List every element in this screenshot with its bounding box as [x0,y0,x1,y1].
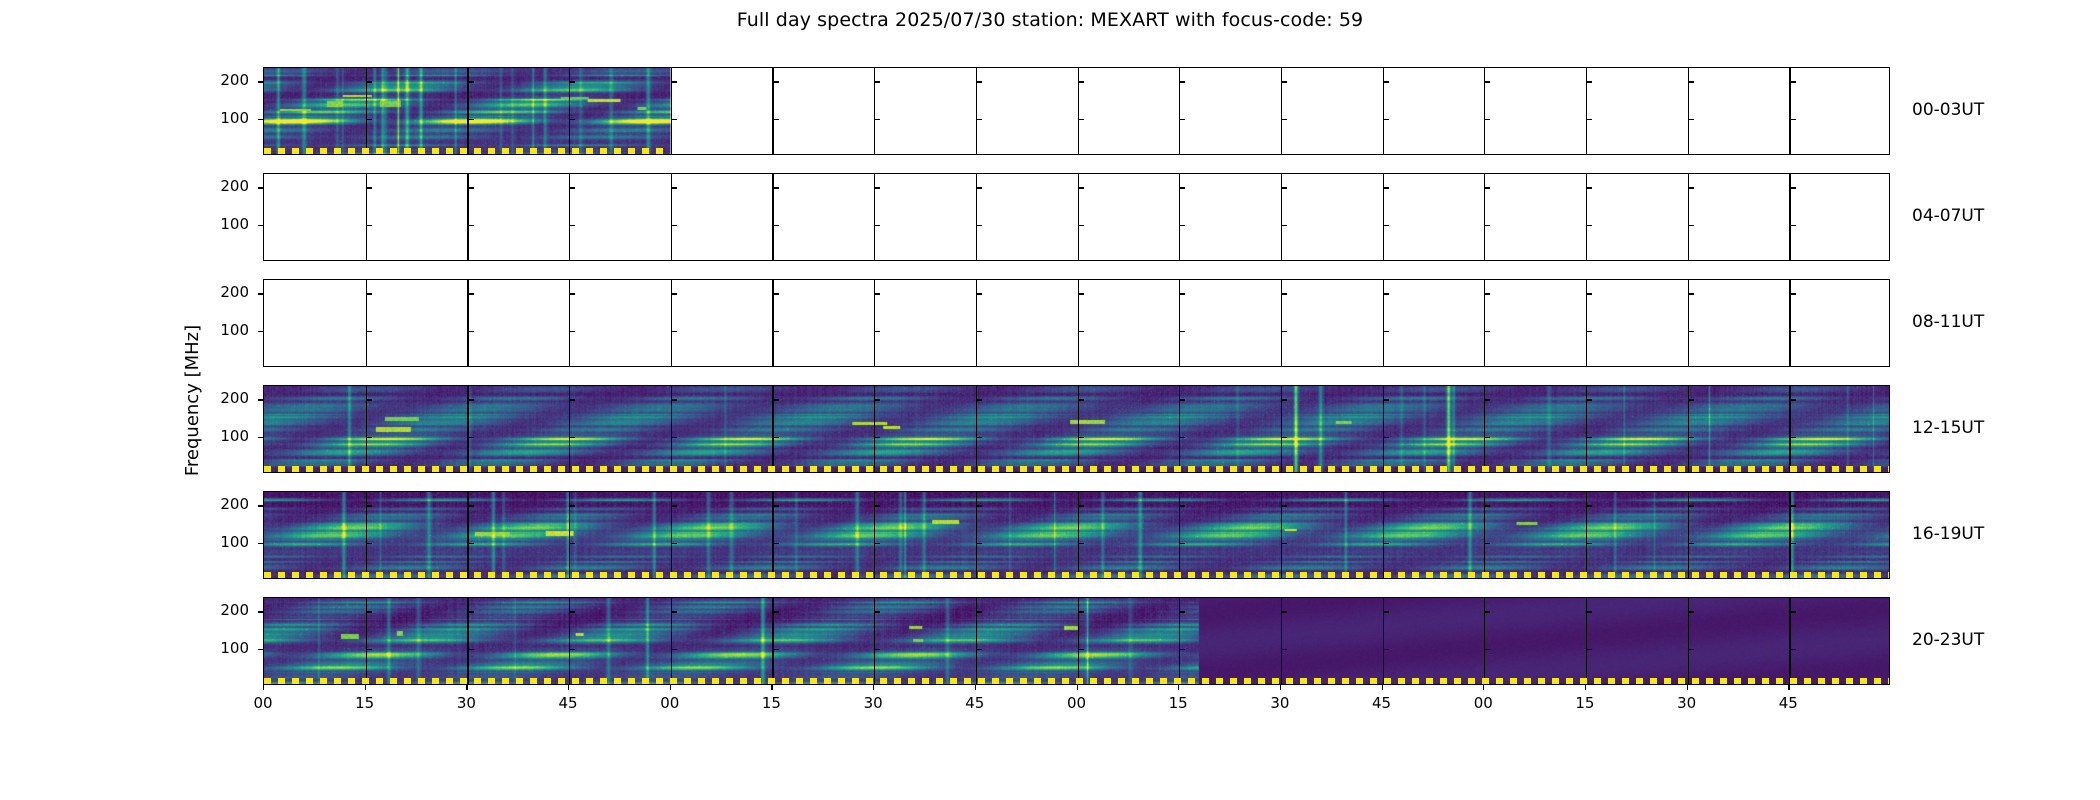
y-tick-mark-inner [977,437,982,438]
x-tick-label: 00 [650,694,690,712]
y-tick-mark [258,611,263,612]
y-tick-mark-inner [1791,399,1796,400]
y-tick-mark-inner [875,293,880,294]
y-tick-mark-inner [1485,293,1490,294]
y-tick-mark-inner [469,399,474,400]
y-tick-mark-inner [1485,225,1490,226]
y-tick-mark-inner [875,187,880,188]
y-tick-mark-inner [570,225,575,226]
y-tick-mark-inner [672,331,677,332]
y-tick-mark-inner [1485,187,1490,188]
y-tick-mark-inner [1282,331,1287,332]
y-tick-mark-inner [1079,543,1084,544]
y-tick-mark-inner [469,611,474,612]
spectrogram-panel-08-11ut[interactable] [263,279,1890,367]
y-tick-mark-inner [1485,505,1490,506]
y-tick-mark-inner [1485,611,1490,612]
x-tick-label: 00 [1463,694,1503,712]
y-tick-mark-inner [1587,399,1592,400]
y-tick-mark-inner [1587,505,1592,506]
y-tick-mark-inner [570,611,575,612]
x-tick-mark [466,685,467,690]
y-tick-mark-inner [570,293,575,294]
y-tick-mark-inner [367,293,372,294]
y-tick-mark [258,187,263,188]
y-tick-mark-inner [367,331,372,332]
spectrogram-image [264,598,1889,684]
y-tick-mark-inner [367,187,372,188]
y-tick-mark-inner [977,187,982,188]
y-tick-mark-inner [469,81,474,82]
panel-time-label: 00-03UT [1912,100,1984,120]
y-tick-mark-inner [977,293,982,294]
x-tick-label: 45 [1362,694,1402,712]
y-tick-label: 200 [201,71,249,89]
y-tick-mark-inner [469,119,474,120]
y-tick-mark-inner [1384,437,1389,438]
y-tick-mark-inner [570,399,575,400]
y-tick-label: 200 [201,283,249,301]
panel-time-label: 04-07UT [1912,206,1984,226]
y-tick-mark-inner [1180,399,1185,400]
y-tick-mark-inner [570,437,575,438]
y-tick-mark-inner [774,399,779,400]
y-tick-mark-inner [672,611,677,612]
y-tick-mark-inner [672,437,677,438]
y-tick-mark-inner [1384,331,1389,332]
y-tick-mark-inner [1384,293,1389,294]
spectrogram-panel-20-23ut[interactable] [263,597,1890,685]
y-tick-mark-inner [774,119,779,120]
y-tick-mark-inner [1689,649,1694,650]
y-tick-mark-inner [469,543,474,544]
y-tick-mark-inner [1282,187,1287,188]
y-tick-mark-inner [875,119,880,120]
y-tick-label: 100 [201,639,249,657]
y-tick-mark-inner [1079,81,1084,82]
y-tick-mark-inner [1587,225,1592,226]
spectrogram-image [264,68,1889,154]
y-tick-mark-inner [570,331,575,332]
x-tick-label: 00 [1057,694,1097,712]
y-tick-mark-inner [469,225,474,226]
spectrogram-panel-04-07ut[interactable] [263,173,1890,261]
x-tick-label: 15 [1158,694,1198,712]
y-tick-mark-inner [1079,649,1084,650]
y-tick-mark-inner [367,81,372,82]
y-tick-mark [258,437,263,438]
y-tick-mark-inner [1689,611,1694,612]
y-tick-mark-inner [672,399,677,400]
y-tick-mark-inner [1791,543,1796,544]
y-tick-mark-inner [1587,119,1592,120]
y-tick-mark [258,119,263,120]
y-tick-mark-inner [672,225,677,226]
y-tick-mark-inner [1282,119,1287,120]
y-tick-mark-inner [1384,187,1389,188]
y-tick-mark-inner [1791,119,1796,120]
x-tick-label: 45 [548,694,588,712]
y-tick-mark-inner [1180,649,1185,650]
y-tick-mark-inner [570,81,575,82]
y-tick-mark-inner [1791,293,1796,294]
x-tick-label: 45 [1768,694,1808,712]
y-tick-mark-inner [367,399,372,400]
y-tick-mark-inner [1180,611,1185,612]
y-tick-label: 200 [201,495,249,513]
y-tick-mark-inner [1485,81,1490,82]
y-tick-mark-inner [977,399,982,400]
y-tick-mark-inner [672,293,677,294]
y-tick-mark-inner [1079,437,1084,438]
x-tick-mark [1483,685,1484,690]
y-tick-mark-inner [1282,399,1287,400]
panel-time-label: 08-11UT [1912,312,1984,332]
y-tick-mark-inner [1485,119,1490,120]
y-tick-mark-inner [1587,611,1592,612]
y-tick-mark-inner [1282,505,1287,506]
x-tick-mark [568,685,569,690]
y-tick-mark-inner [1689,81,1694,82]
y-tick-mark-inner [1791,505,1796,506]
x-tick-label: 30 [1667,694,1707,712]
y-tick-mark-inner [774,187,779,188]
y-tick-mark-inner [1282,543,1287,544]
y-tick-mark-inner [672,119,677,120]
y-tick-mark-inner [672,81,677,82]
y-tick-mark-inner [1587,543,1592,544]
y-tick-mark [258,331,263,332]
y-tick-mark-inner [774,543,779,544]
y-tick-label: 100 [201,533,249,551]
y-tick-mark-inner [1079,611,1084,612]
y-tick-mark-inner [672,543,677,544]
y-tick-mark-inner [1689,119,1694,120]
y-tick-mark-inner [1791,81,1796,82]
y-tick-mark-inner [1079,187,1084,188]
y-tick-mark-inner [875,437,880,438]
y-tick-mark-inner [977,611,982,612]
y-tick-mark-inner [875,611,880,612]
y-tick-mark-inner [1180,543,1185,544]
y-tick-mark [258,81,263,82]
y-tick-mark [258,505,263,506]
y-tick-mark-inner [1587,187,1592,188]
y-tick-mark-inner [977,543,982,544]
y-tick-mark [258,649,263,650]
y-tick-mark-inner [774,225,779,226]
time-marker-strip [264,148,670,154]
y-tick-mark-inner [469,437,474,438]
x-tick-mark [365,685,366,690]
y-tick-mark-inner [1384,505,1389,506]
y-tick-mark-inner [977,331,982,332]
y-tick-mark-inner [1689,187,1694,188]
y-tick-label: 200 [201,601,249,619]
y-tick-mark-inner [977,225,982,226]
y-tick-mark-inner [1180,81,1185,82]
y-tick-mark-inner [1791,187,1796,188]
time-marker-strip [264,678,1889,684]
y-tick-mark-inner [875,543,880,544]
x-tick-label: 15 [751,694,791,712]
y-tick-mark [258,399,263,400]
spectrogram-image [264,492,1889,578]
y-tick-mark-inner [367,543,372,544]
y-tick-mark-inner [875,225,880,226]
y-tick-mark-inner [1180,437,1185,438]
spectrogram-image [264,386,1889,472]
y-tick-mark-inner [977,505,982,506]
time-marker-strip [264,466,1889,472]
y-tick-mark-inner [1282,81,1287,82]
y-tick-mark-inner [570,119,575,120]
y-tick-mark-inner [672,187,677,188]
y-tick-mark-inner [1485,437,1490,438]
y-tick-mark-inner [1587,293,1592,294]
time-marker-strip [264,572,1889,578]
y-tick-mark-inner [1282,437,1287,438]
x-tick-mark [1788,685,1789,690]
y-tick-mark-inner [672,505,677,506]
y-tick-mark [258,543,263,544]
y-tick-mark-inner [774,611,779,612]
y-tick-mark-inner [469,187,474,188]
x-tick-label: 30 [446,694,486,712]
y-tick-mark-inner [1282,293,1287,294]
spectrogram-panel-12-15ut[interactable] [263,385,1890,473]
y-tick-mark-inner [1689,293,1694,294]
y-tick-mark-inner [1485,649,1490,650]
y-tick-mark-inner [367,505,372,506]
y-tick-mark-inner [1180,331,1185,332]
y-tick-mark-inner [1282,649,1287,650]
y-tick-mark-inner [1079,119,1084,120]
panel-time-label: 12-15UT [1912,418,1984,438]
y-tick-mark-inner [1791,225,1796,226]
y-tick-mark-inner [1384,81,1389,82]
y-tick-mark-inner [1587,331,1592,332]
y-tick-mark-inner [1689,399,1694,400]
x-tick-label: 45 [955,694,995,712]
y-tick-mark-inner [1079,225,1084,226]
y-tick-mark-inner [570,649,575,650]
x-tick-mark [873,685,874,690]
y-tick-mark-inner [672,649,677,650]
y-tick-mark-inner [1180,505,1185,506]
y-tick-mark-inner [570,505,575,506]
x-tick-label: 15 [1565,694,1605,712]
y-tick-mark-inner [1689,437,1694,438]
y-tick-mark-inner [1180,119,1185,120]
y-tick-mark-inner [875,81,880,82]
y-tick-mark-inner [774,331,779,332]
y-tick-mark-inner [1384,543,1389,544]
y-tick-mark-inner [367,225,372,226]
y-tick-mark-inner [1485,331,1490,332]
y-tick-mark-inner [1384,611,1389,612]
y-tick-mark [258,293,263,294]
y-tick-label: 100 [201,427,249,445]
y-tick-mark-inner [1079,293,1084,294]
y-tick-mark-inner [1180,293,1185,294]
y-tick-mark-inner [1587,649,1592,650]
y-tick-label: 200 [201,389,249,407]
y-tick-mark-inner [774,437,779,438]
y-tick-mark-inner [1079,399,1084,400]
x-tick-label: 30 [853,694,893,712]
y-tick-mark-inner [1282,611,1287,612]
y-tick-mark-inner [1791,331,1796,332]
y-tick-mark-inner [1689,505,1694,506]
x-tick-label: 15 [345,694,385,712]
y-tick-mark-inner [1485,399,1490,400]
x-tick-mark [670,685,671,690]
y-tick-mark-inner [1180,225,1185,226]
y-tick-mark-inner [1384,399,1389,400]
y-tick-mark-inner [875,649,880,650]
y-tick-mark-inner [1587,81,1592,82]
y-tick-mark-inner [367,649,372,650]
x-tick-label: 00 [243,694,283,712]
y-tick-mark-inner [774,649,779,650]
y-tick-mark-inner [1384,649,1389,650]
x-tick-mark [1178,685,1179,690]
y-tick-label: 100 [201,321,249,339]
y-tick-mark-inner [469,293,474,294]
y-tick-mark-inner [469,649,474,650]
y-tick-mark-inner [367,611,372,612]
y-tick-label: 200 [201,177,249,195]
panel-time-label: 20-23UT [1912,630,1984,650]
y-tick-mark-inner [367,119,372,120]
y-tick-mark-inner [875,331,880,332]
x-tick-mark [975,685,976,690]
y-tick-mark-inner [570,543,575,544]
y-tick-mark-inner [570,187,575,188]
x-tick-mark [771,685,772,690]
y-tick-mark-inner [977,649,982,650]
y-tick-label: 100 [201,109,249,127]
y-tick-mark-inner [1791,611,1796,612]
x-tick-mark [1687,685,1688,690]
y-tick-mark-inner [1791,437,1796,438]
y-tick-mark-inner [1485,543,1490,544]
y-tick-mark-inner [774,505,779,506]
y-tick-mark-inner [1689,543,1694,544]
spectrogram-panel-16-19ut[interactable] [263,491,1890,579]
y-tick-mark-inner [977,81,982,82]
page-title: Full day spectra 2025/07/30 station: MEX… [0,9,2100,31]
y-tick-mark-inner [875,399,880,400]
y-tick-mark-inner [1791,649,1796,650]
y-tick-label: 100 [201,215,249,233]
y-tick-mark-inner [1384,225,1389,226]
x-tick-label: 30 [1260,694,1300,712]
y-tick-mark-inner [1282,225,1287,226]
y-tick-mark-inner [469,505,474,506]
y-tick-mark-inner [1180,187,1185,188]
spectrogram-panel-00-03ut[interactable] [263,67,1890,155]
y-tick-mark-inner [875,505,880,506]
y-tick-mark [258,225,263,226]
x-tick-mark [1280,685,1281,690]
y-tick-mark-inner [774,293,779,294]
y-tick-mark-inner [1689,331,1694,332]
y-tick-mark-inner [1587,437,1592,438]
y-tick-mark-inner [469,331,474,332]
x-tick-mark [1077,685,1078,690]
y-tick-mark-inner [1384,119,1389,120]
y-tick-mark-inner [977,119,982,120]
y-tick-mark-inner [367,437,372,438]
figure-canvas: Full day spectra 2025/07/30 station: MEX… [0,0,2100,800]
y-tick-mark-inner [1079,331,1084,332]
y-tick-mark-inner [1689,225,1694,226]
x-tick-mark [1382,685,1383,690]
x-tick-mark [1585,685,1586,690]
x-tick-mark [263,685,264,690]
panel-time-label: 16-19UT [1912,524,1984,544]
y-tick-mark-inner [774,81,779,82]
y-tick-mark-inner [1079,505,1084,506]
